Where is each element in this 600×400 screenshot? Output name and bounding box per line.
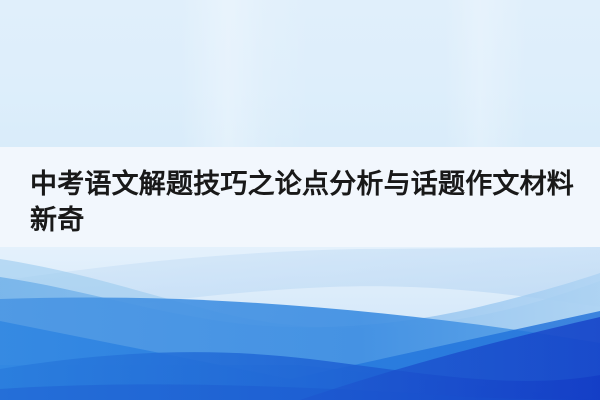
page-title-text: 中考语文解题技巧之论点分析与话题作文材料新奇: [30, 166, 578, 238]
top-background-texture: [0, 0, 600, 147]
page-title: 中考语文解题技巧之论点分析与话题作文材料新奇: [30, 166, 578, 238]
wave-decoration: [0, 247, 600, 400]
banner-image: 中考语文解题技巧之论点分析与话题作文材料新奇: [0, 0, 600, 400]
wave-decoration-svg: [0, 247, 600, 400]
